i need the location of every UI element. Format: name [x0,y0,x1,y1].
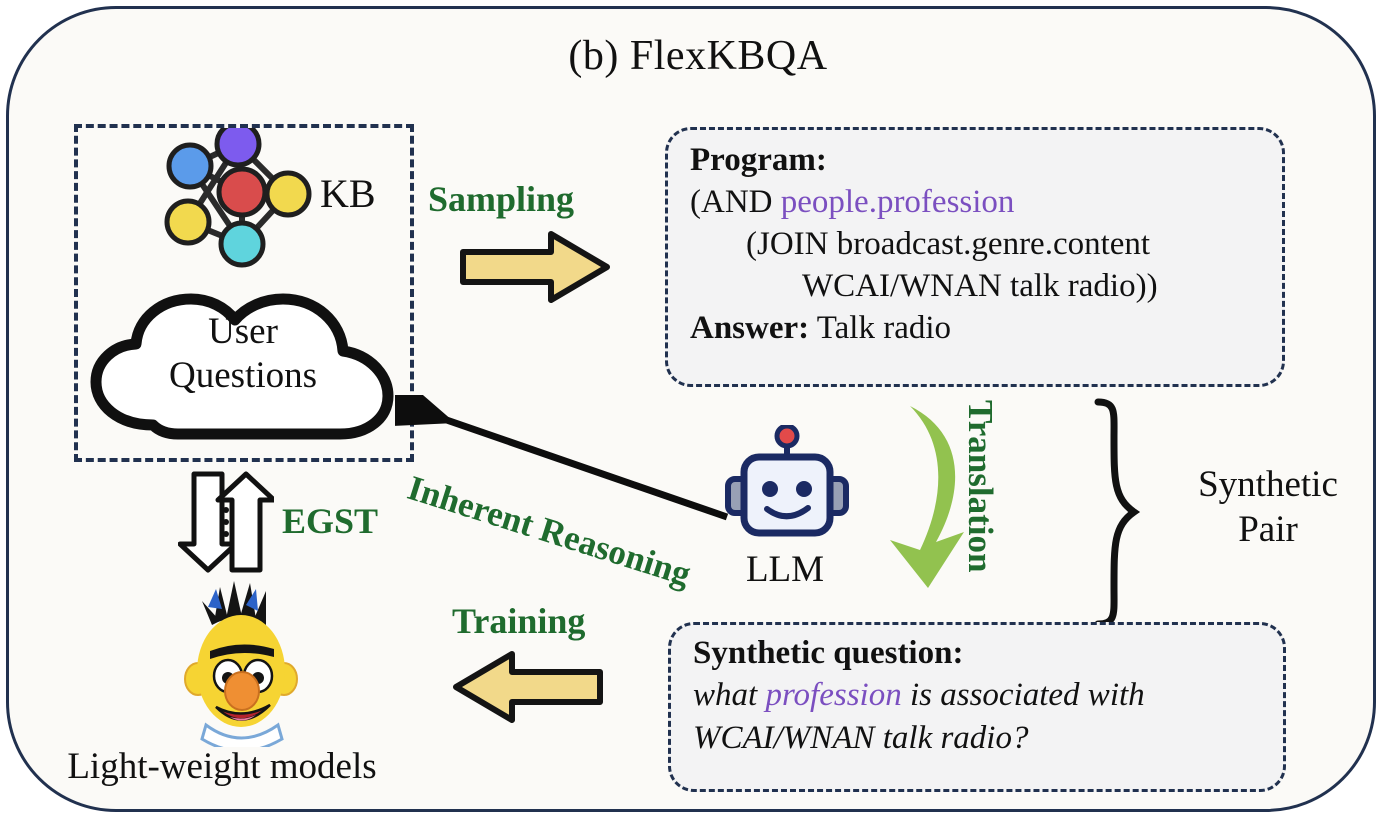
answer-value: Talk radio [809,310,951,346]
answer-label: Answer: [690,310,809,346]
synthetic-question-heading: Synthetic question: [693,633,1267,674]
user-questions-label: User Questions [78,310,408,397]
program-line1-prefix: (AND [690,184,781,220]
kb-label: KB [320,170,376,217]
egst-label: EGST [282,500,378,542]
program-answer: Answer: Talk radio [690,308,1264,350]
question-line1-relation: profession [765,677,901,713]
node-cyan [221,223,263,265]
program-line-1: (AND people.profession [690,182,1264,224]
program-line1-relation: people.profession [781,184,1015,220]
node-red [219,169,265,215]
synthetic-question-line-1: what profession is associated with [693,674,1267,717]
node-purple [217,128,259,165]
flexkbqa-diagram: (b) FlexKBQA [0,0,1396,824]
translation-label: Translation [960,400,1000,572]
synthetic-pair-label: Synthetic Pair [1148,462,1388,552]
node-yellow-left [167,201,209,243]
program-box: Program: (AND people.profession (JOIN br… [665,127,1285,387]
bert-model-icon [168,575,318,747]
sampling-arrow-icon [455,228,615,306]
llm-label: LLM [710,548,860,591]
training-arrow-icon [448,648,608,726]
synthetic-pair-brace [1090,398,1150,628]
node-yellow-right [267,173,309,215]
egst-arrows-icon [178,470,274,574]
training-label: Training [452,600,585,642]
llm-robot-icon [722,425,852,550]
program-line-3: WCAI/WNAN talk radio)) [690,266,1264,308]
program-heading: Program: [690,140,1264,182]
synthetic-question-line-2: WCAI/WNAN talk radio? [693,717,1267,760]
node-blue [169,145,211,187]
question-line1-prefix: what [693,677,765,713]
kb-graph-icon [150,128,320,268]
light-weight-models-label: Light-weight models [22,745,422,788]
question-line1-suffix: is associated with [902,677,1145,713]
sampling-label: Sampling [428,178,574,220]
synthetic-question-box: Synthetic question: what profession is a… [668,622,1286,792]
program-line-2: (JOIN broadcast.genre.content [690,224,1264,266]
page-title: (b) FlexKBQA [0,32,1396,80]
